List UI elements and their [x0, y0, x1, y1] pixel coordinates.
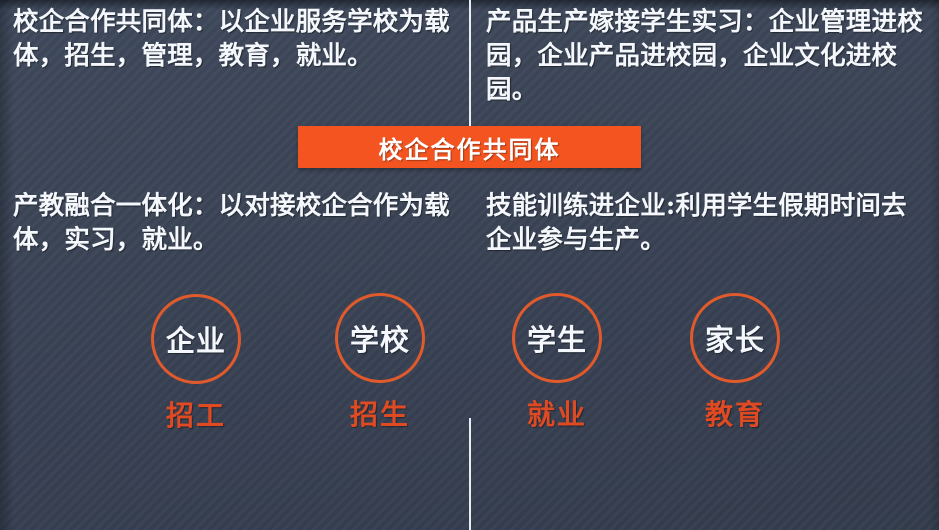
node-enterprise-circle-label: 企业 [166, 318, 226, 360]
node-parent-circle: 家长 [690, 293, 780, 383]
vertical-divider-top [469, 0, 471, 126]
quadrant-text-bottom-left: 产教融合一体化：以对接校企合作为载体，实习，就业。 [13, 190, 453, 258]
quadrant-text-top-right: 产品生产嫁接学生实习：企业管理进校园，企业产品进校园，企业文化进校园。 [486, 6, 931, 108]
node-student-circle-label: 学生 [527, 317, 587, 359]
node-school-circle-label: 学校 [350, 317, 410, 359]
center-banner-label: 校企合作共同体 [379, 130, 561, 165]
node-parent: 家长 教育 [675, 293, 795, 433]
quadrant-text-bottom-right: 技能训练进企业:利用学生假期时间去企业参与生产。 [486, 190, 931, 258]
node-student-caption: 就业 [497, 393, 617, 433]
node-student-circle: 学生 [512, 293, 602, 383]
node-enterprise-caption: 招工 [136, 394, 256, 434]
node-enterprise-circle: 企业 [151, 294, 241, 384]
vertical-divider-bottom [469, 418, 471, 530]
center-banner: 校企合作共同体 [298, 126, 641, 168]
node-parent-caption: 教育 [675, 393, 795, 433]
node-enterprise: 企业 招工 [136, 294, 256, 434]
node-school-circle: 学校 [335, 293, 425, 383]
node-parent-circle-label: 家长 [705, 317, 765, 359]
node-student: 学生 就业 [497, 293, 617, 433]
quadrant-text-top-left: 校企合作共同体：以企业服务学校为载体，招生，管理，教育，就业。 [13, 6, 453, 74]
slide-canvas: 校企合作共同体：以企业服务学校为载体，招生，管理，教育，就业。 产品生产嫁接学生… [0, 0, 939, 530]
node-school-caption: 招生 [320, 393, 440, 433]
node-school: 学校 招生 [320, 293, 440, 433]
